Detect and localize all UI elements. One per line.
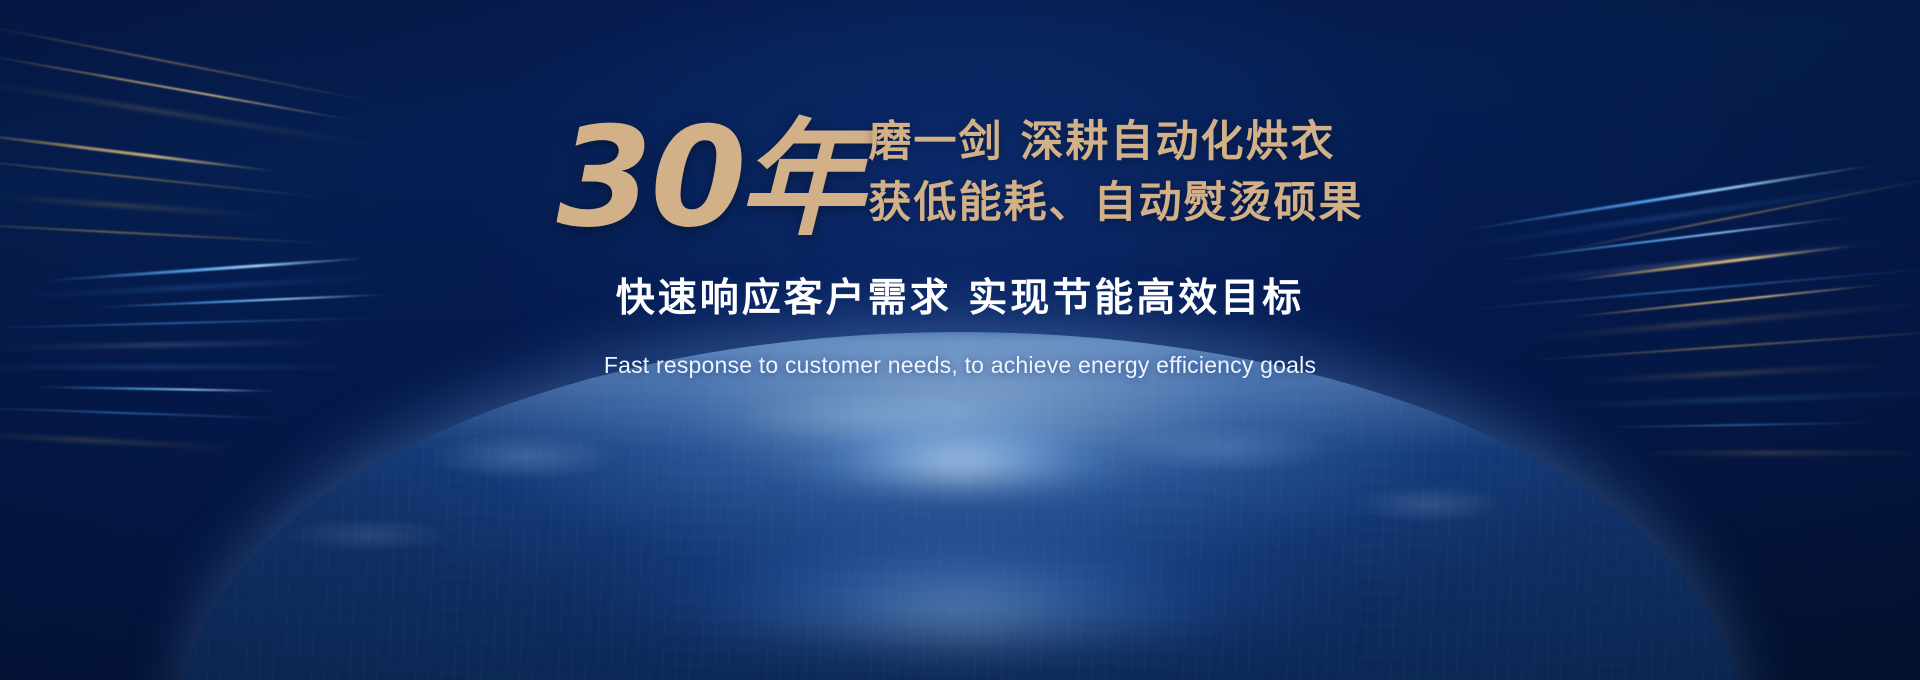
banner-text-block: 30 年 磨一剑 深耕自动化烘衣 获低能耗、自动熨烫硕果 快速响应客户需求 实现… [0,104,1920,379]
years-unit-character: 年 [739,116,865,245]
gold-slogan-group: 磨一剑 深耕自动化烘衣 获低能耗、自动熨烫硕果 [869,112,1364,234]
years-number: 30 [556,110,744,245]
streak-blue-left-7 [0,406,290,420]
headline-row: 30 年 磨一剑 深耕自动化烘衣 获低能耗、自动熨烫硕果 [0,104,1920,245]
gold-slogan-line-2: 获低能耗、自动熨烫硕果 [869,173,1364,234]
globe-graphic [180,332,1740,680]
globe-sphere [180,332,1740,680]
streak-gold-left-8 [0,432,250,450]
streak-gold-right-7 [1620,452,1920,454]
english-subtitle: Fast response to customer needs, to achi… [604,352,1316,379]
white-slogan-line: 快速响应客户需求 实现节能高效目标 [616,267,1305,323]
streak-gold-left-1 [0,21,386,105]
globe-surface-detail [180,332,1740,680]
streak-blue-left-6 [30,386,280,392]
streak-blue-right-5 [1540,390,1920,407]
hero-banner: 30 年 磨一剑 深耕自动化烘衣 获低能耗、自动熨烫硕果 快速响应客户需求 实现… [0,0,1920,680]
streak-blue-right-6 [1600,422,1880,429]
gold-slogan-line-1: 磨一剑 深耕自动化烘衣 [869,112,1364,173]
